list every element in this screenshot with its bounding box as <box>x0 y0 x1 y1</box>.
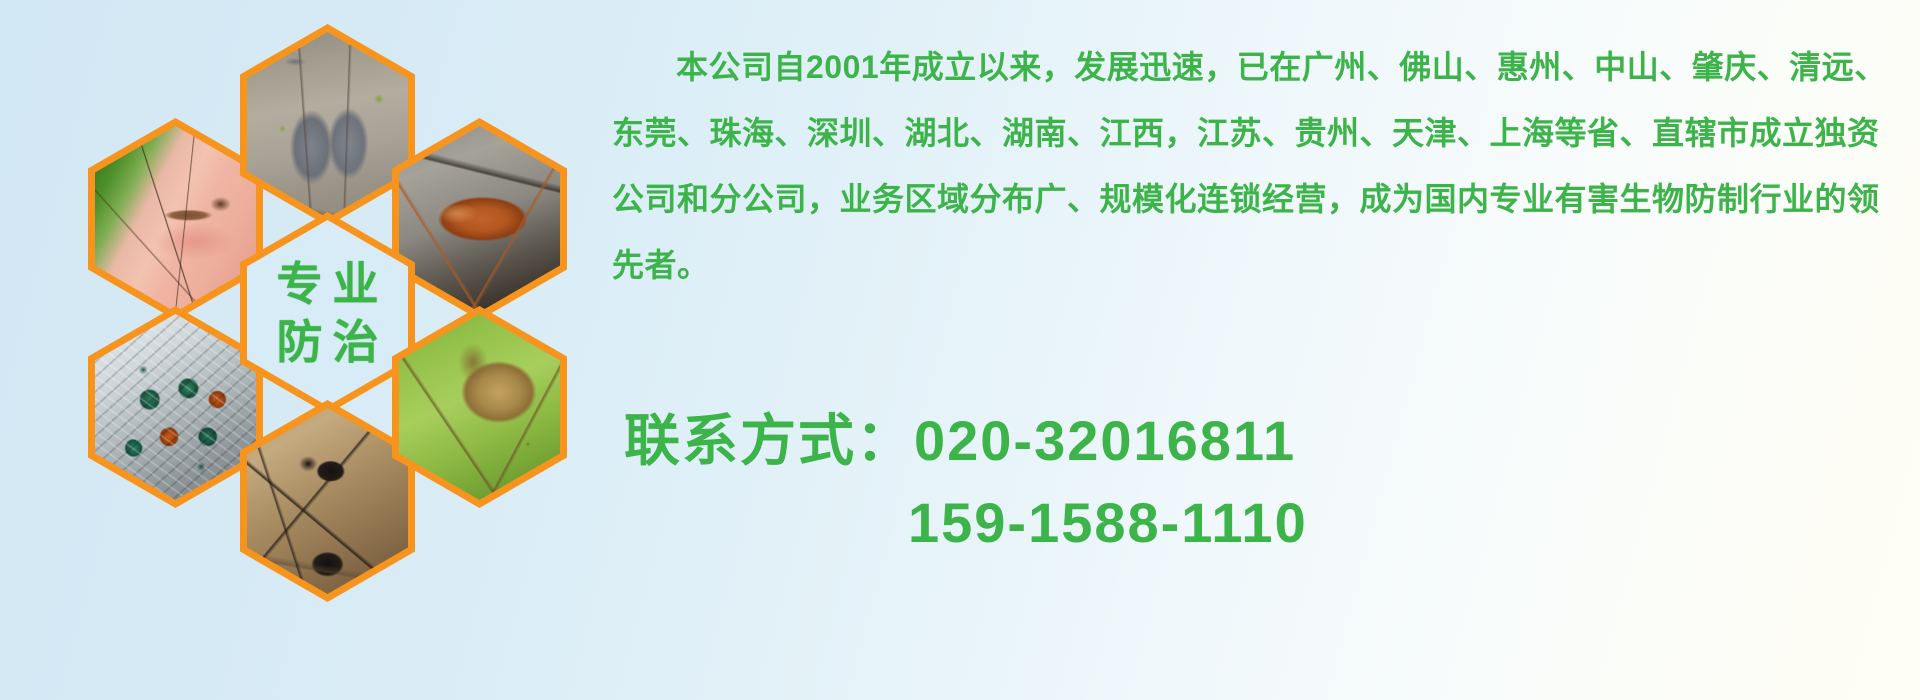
hex-photo-cockroach <box>399 126 560 312</box>
contact-line-secondary[interactable]: 159-1588-1110 <box>624 482 1914 564</box>
rat-icon <box>247 32 408 218</box>
hex-cell-flies[interactable] <box>88 306 263 508</box>
promo-banner: 专业 防治 本公司自2001年成立以来，发展迅速，已在广州、佛山、惠州、中山、肇… <box>0 0 1920 700</box>
hex-photo-ant <box>247 408 408 594</box>
mosquito-icon <box>95 126 256 312</box>
fly-icon <box>95 314 256 500</box>
hex-photo-mosquito <box>95 126 256 312</box>
contact-line-primary[interactable]: 联系方式：020-32016811 <box>624 400 1914 482</box>
hex-cell-ant[interactable] <box>240 400 415 602</box>
hex-cell-rats[interactable] <box>240 24 415 226</box>
intro-paragraph: 本公司自2001年成立以来，发展迅速，已在广州、佛山、惠州、中山、肇庆、清远、东… <box>612 34 1892 298</box>
slogan-text: 专业 防治 <box>247 220 408 406</box>
hex-cell-cockroach[interactable] <box>392 118 567 320</box>
hex-slogan-panel: 专业 防治 <box>247 220 408 406</box>
hex-photo-rats <box>247 32 408 218</box>
company-intro: 本公司自2001年成立以来，发展迅速，已在广州、佛山、惠州、中山、肇庆、清远、东… <box>612 34 1892 298</box>
slogan-line-2: 防治 <box>267 319 389 365</box>
slogan-line-1: 专业 <box>267 261 389 307</box>
cockroach-icon <box>399 126 560 312</box>
honeycomb-gallery: 专业 防治 <box>88 0 588 576</box>
contact-block: 联系方式：020-32016811 159-1588-1110 <box>624 400 1914 564</box>
stinkbug-icon <box>399 314 560 500</box>
hex-photo-stinkbug <box>399 314 560 500</box>
hex-cell-stinkbug[interactable] <box>392 306 567 508</box>
hex-cell-slogan: 专业 防治 <box>240 212 415 414</box>
ant-icon <box>247 408 408 594</box>
hex-cell-mosquito[interactable] <box>88 118 263 320</box>
hex-photo-flies <box>95 314 256 500</box>
